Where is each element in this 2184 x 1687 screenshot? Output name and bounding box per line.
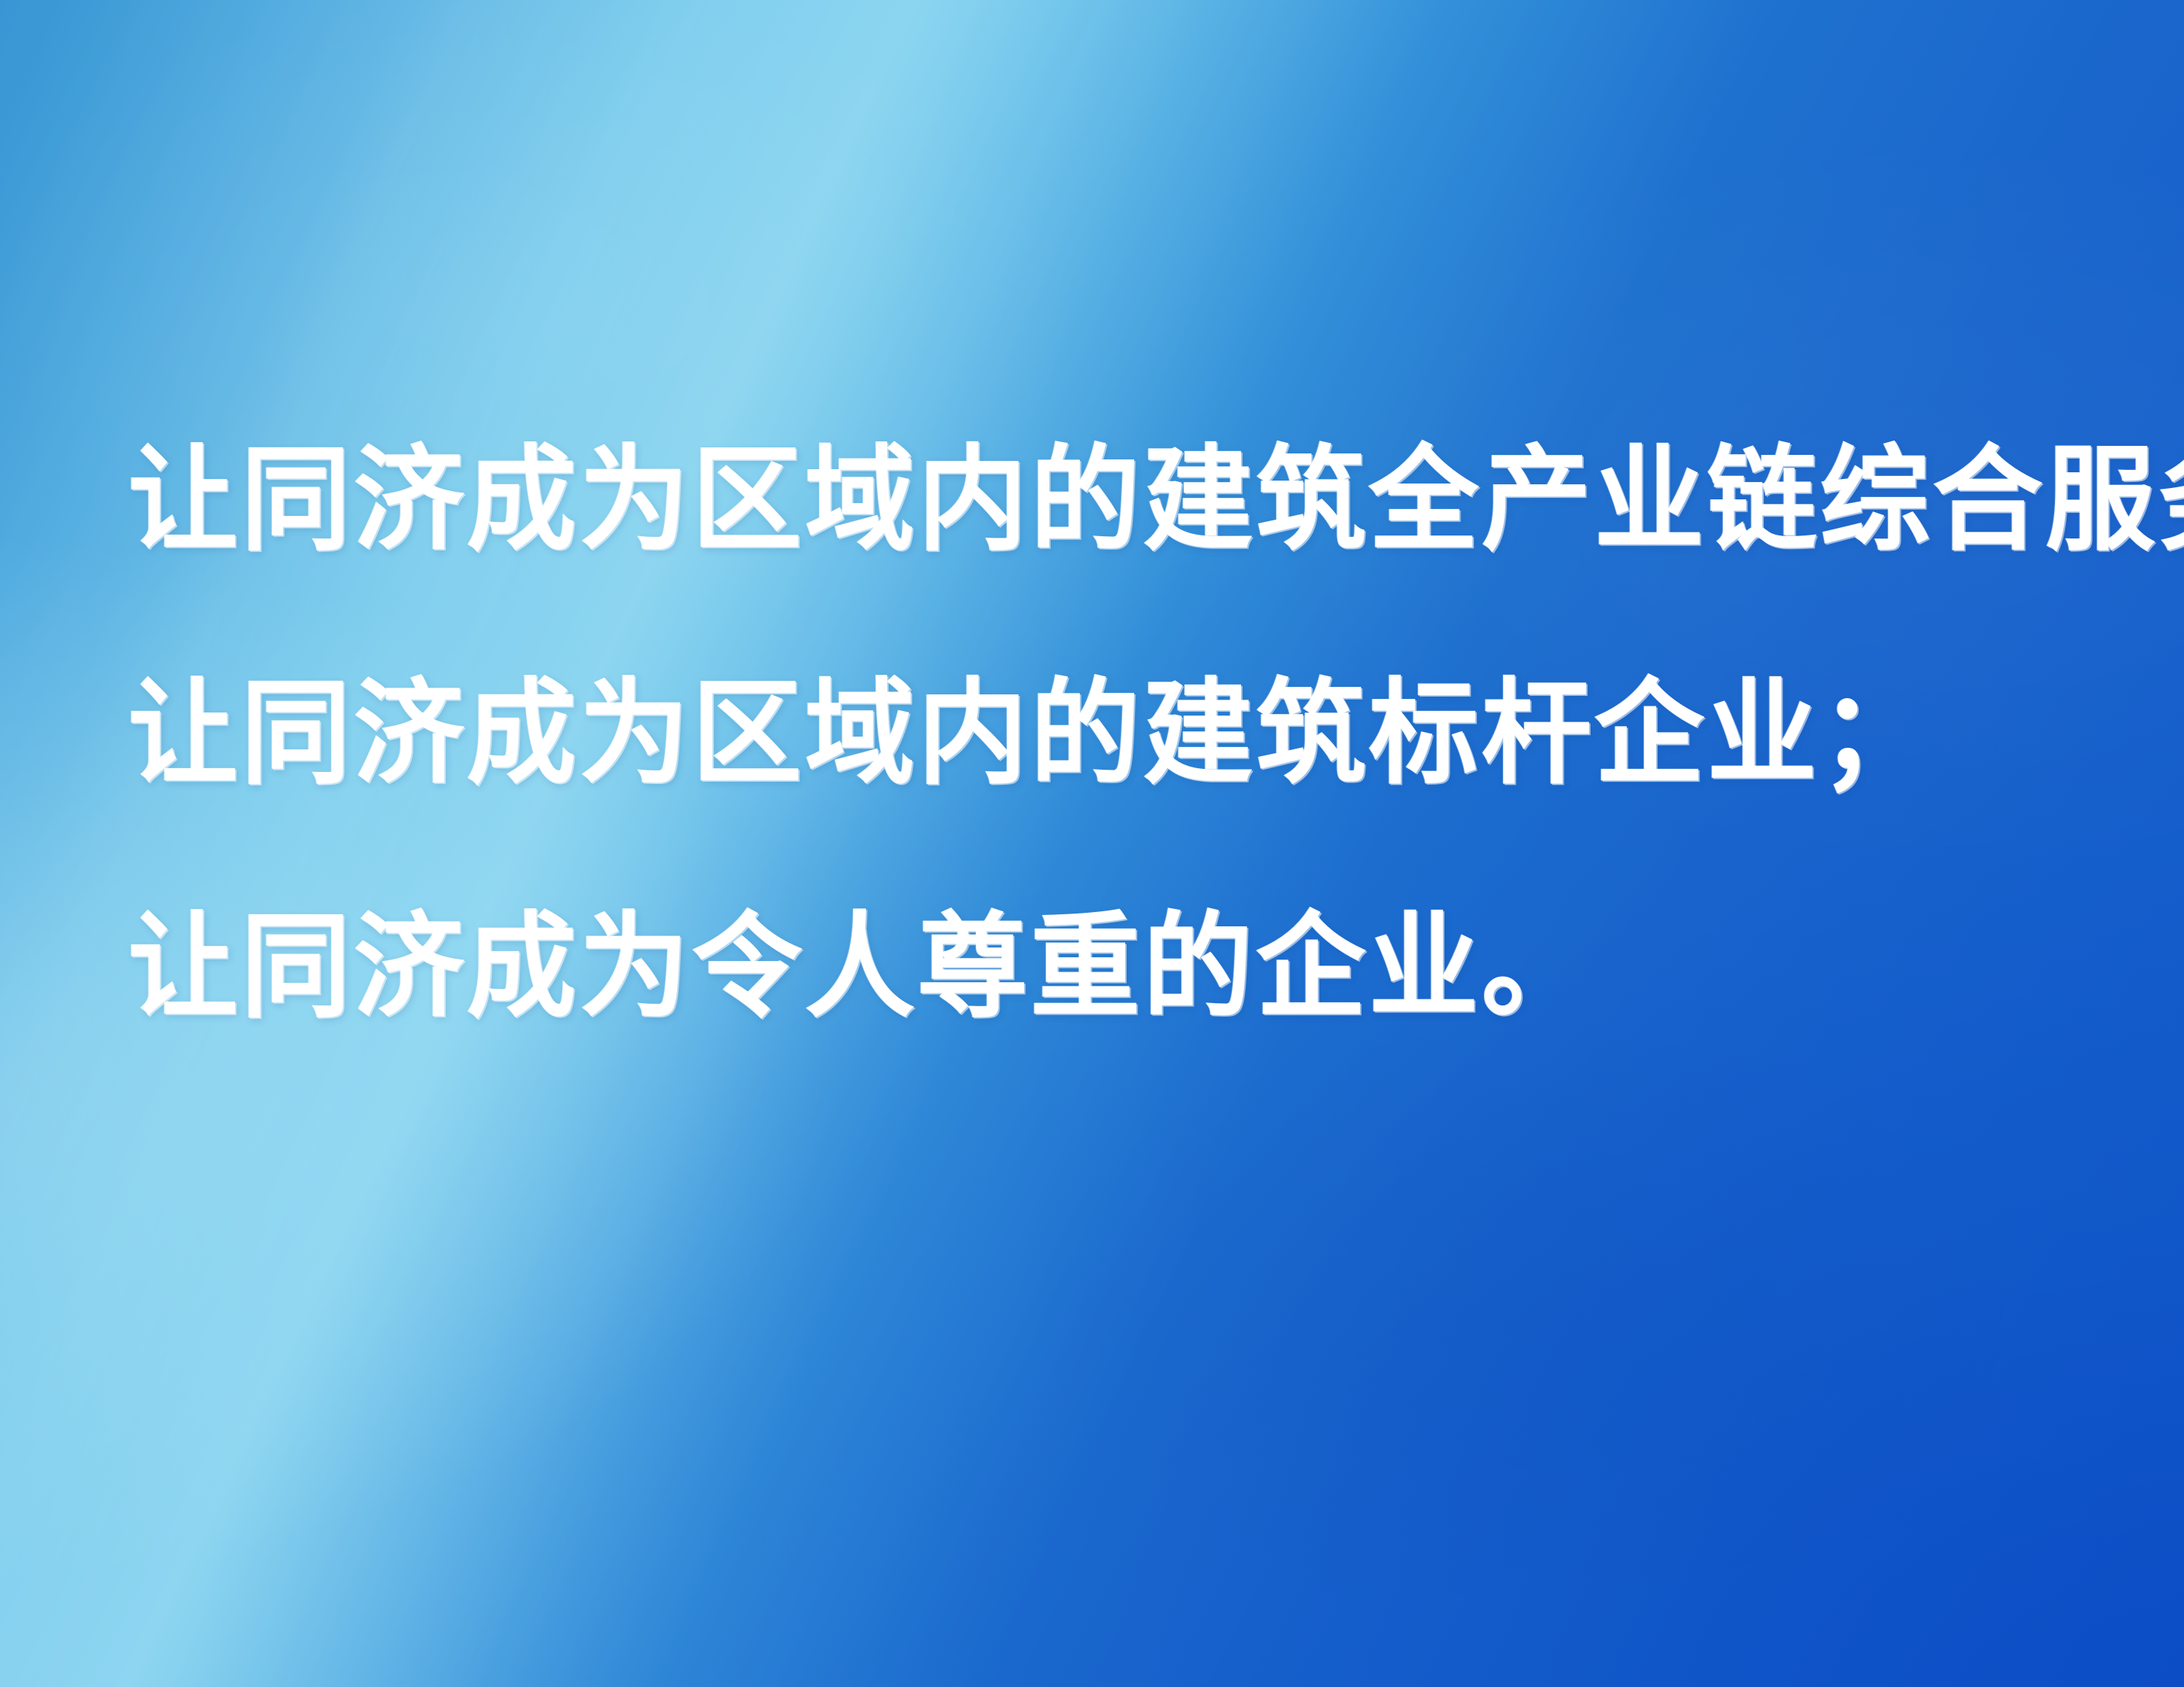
- slide-line-3: 让同济成为令人尊重的企业。: [128, 910, 2044, 1024]
- presentation-slide: 让同济成为区域内的建筑全产业链综合服务商； 让同济成为区域内的建筑标杆企业； 让…: [0, 0, 2184, 1687]
- slide-text-block: 让同济成为区域内的建筑全产业链综合服务商； 让同济成为区域内的建筑标杆企业； 让…: [128, 443, 2124, 1024]
- slide-line-1: 让同济成为区域内的建筑全产业链综合服务商；: [128, 443, 2044, 557]
- slide-line-2: 让同济成为区域内的建筑标杆企业；: [128, 676, 2044, 791]
